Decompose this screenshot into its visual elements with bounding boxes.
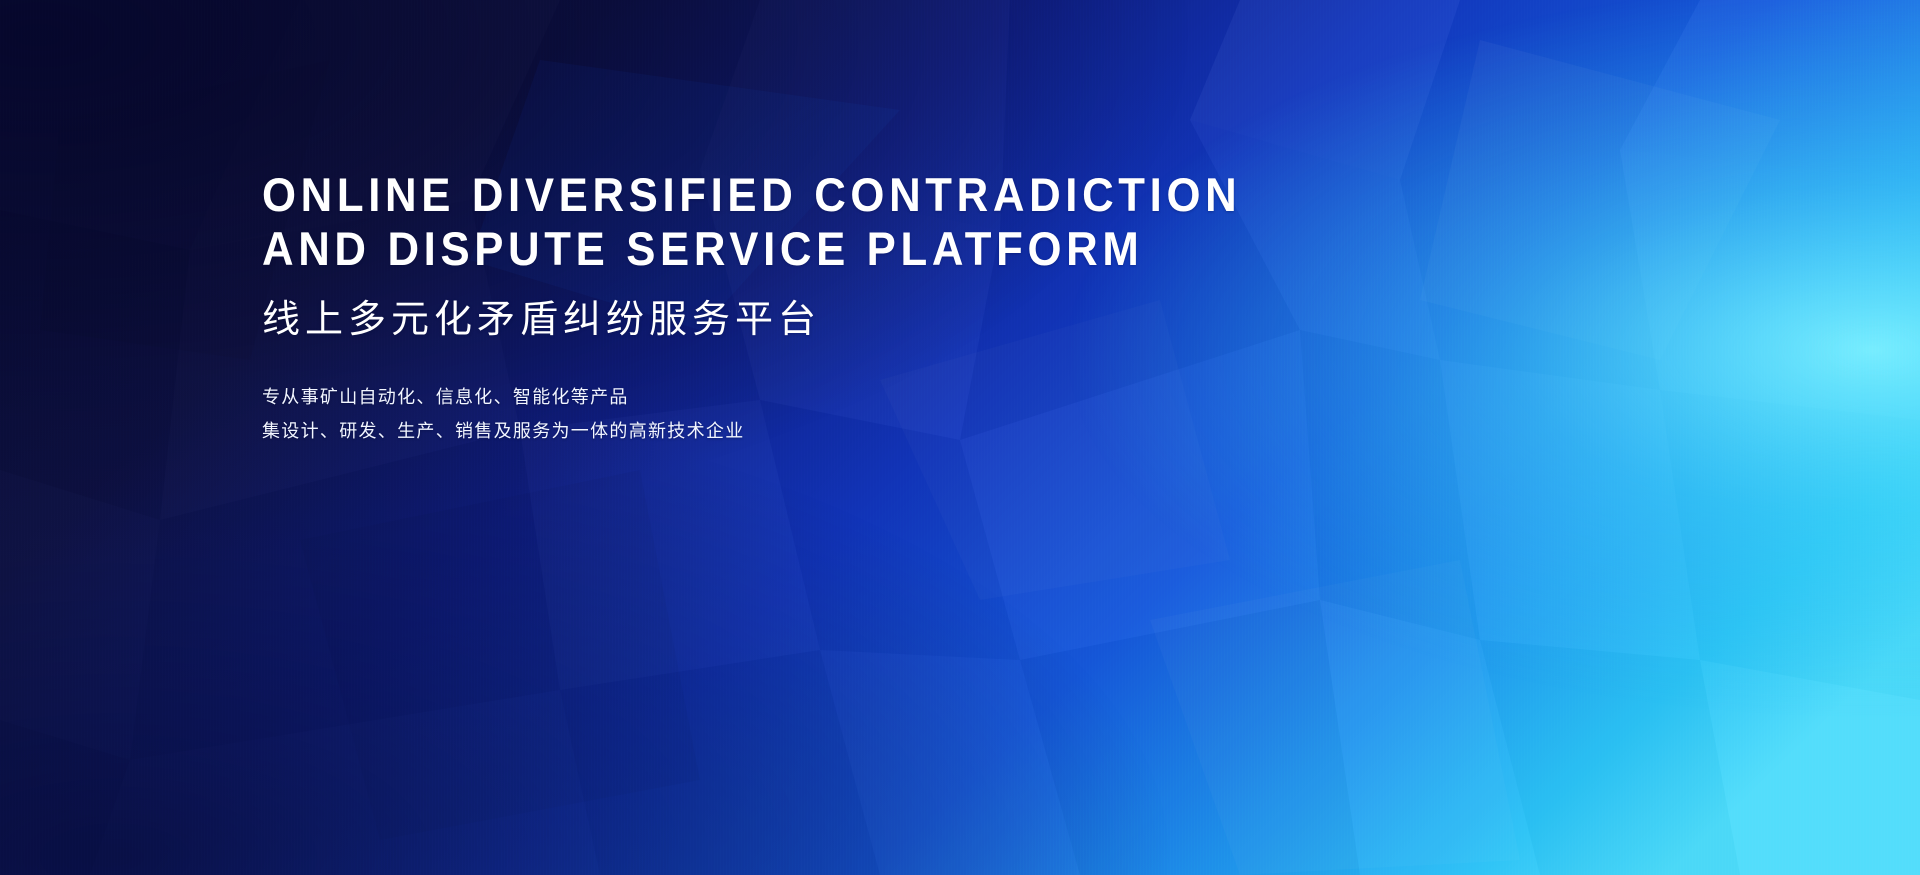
description-line-1: 专从事矿山自动化、信息化、智能化等产品: [262, 380, 1462, 414]
banner-content: ONLINE DIVERSIFIED CONTRADICTION AND DIS…: [262, 168, 1462, 448]
hero-banner: ONLINE DIVERSIFIED CONTRADICTION AND DIS…: [0, 0, 1920, 875]
title-line-2: AND DISPUTE SERVICE PLATFORM: [262, 222, 1378, 276]
subtitle-chinese: 线上多元化矛盾纠纷服务平台: [262, 296, 1462, 344]
page-title: ONLINE DIVERSIFIED CONTRADICTION AND DIS…: [262, 168, 1462, 276]
description-line-2: 集设计、研发、生产、销售及服务为一体的高新技术企业: [262, 414, 1462, 448]
description-block: 专从事矿山自动化、信息化、智能化等产品 集设计、研发、生产、销售及服务为一体的高…: [262, 380, 1462, 448]
title-line-1: ONLINE DIVERSIFIED CONTRADICTION: [262, 168, 1378, 222]
